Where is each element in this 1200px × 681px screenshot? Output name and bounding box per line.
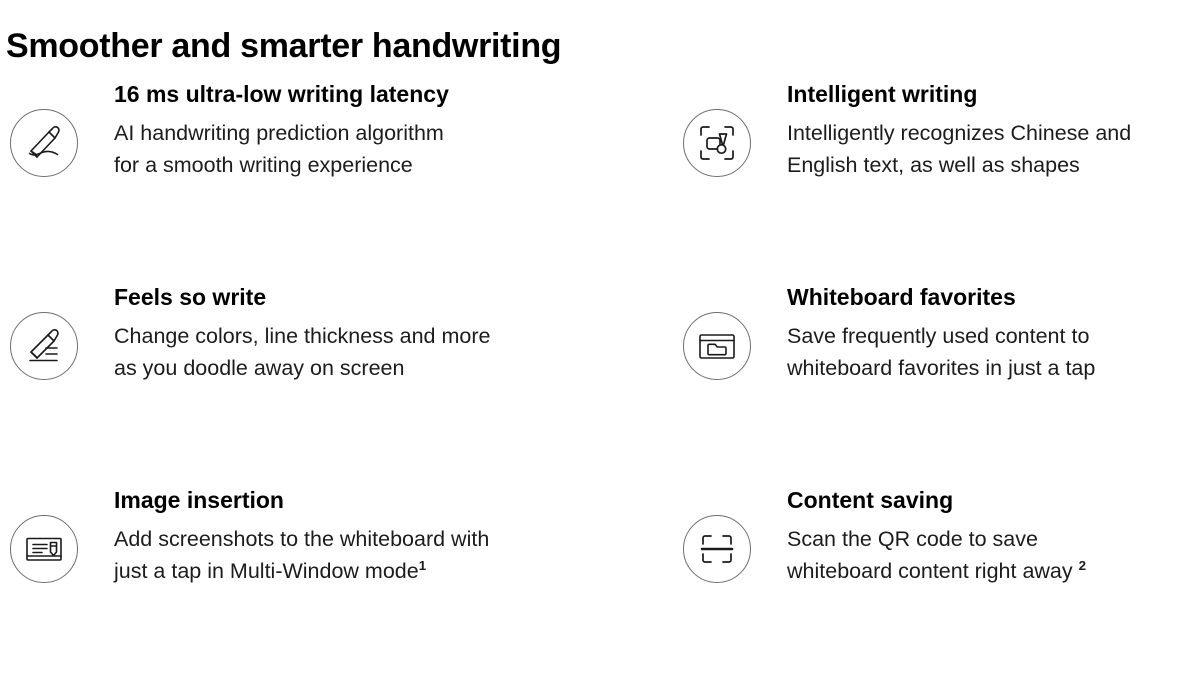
- feature-text: Whiteboard favorites Save frequently use…: [751, 275, 1200, 385]
- feature-title: 16 ms ultra-low writing latency: [114, 80, 680, 109]
- feature-title: Feels so write: [114, 283, 680, 312]
- feature-title: Whiteboard favorites: [787, 283, 1200, 312]
- feature-item-image-insertion: Image insertion Add screenshots to the w…: [0, 478, 680, 681]
- footnote-marker: 2: [1079, 558, 1086, 573]
- feature-icon-wrap: [10, 515, 78, 583]
- feature-desc-line1: Save frequently used content to: [787, 324, 1089, 348]
- feature-row: Image insertion Add screenshots to the w…: [0, 478, 1200, 681]
- pen-stroke-icon: [10, 109, 78, 177]
- feature-description: Change colors, line thickness and more a…: [114, 320, 680, 385]
- feature-description: Intelligently recognizes Chinese and Eng…: [787, 117, 1200, 182]
- pen-lines-icon: [10, 312, 78, 380]
- feature-page: Smoother and smarter handwriting: [0, 0, 1200, 622]
- feature-item-latency: 16 ms ultra-low writing latency AI handw…: [0, 72, 680, 275]
- feature-title: Intelligent writing: [787, 80, 1200, 109]
- feature-title: Image insertion: [114, 486, 680, 515]
- feature-title: Content saving: [787, 486, 1200, 515]
- feature-icon-wrap: [683, 515, 751, 583]
- feature-item-content-saving: Content saving Scan the QR code to save …: [680, 478, 1200, 681]
- feature-description: AI handwriting prediction algorithm for …: [114, 117, 680, 182]
- feature-icon-wrap: [683, 109, 751, 177]
- page-title: Smoother and smarter handwriting: [6, 27, 561, 66]
- feature-desc-line2: for a smooth writing experience: [114, 153, 413, 177]
- feature-desc-line2: whiteboard content right away: [787, 559, 1079, 583]
- feature-row: 16 ms ultra-low writing latency AI handw…: [0, 72, 1200, 275]
- feature-desc-line2: as you doodle away on screen: [114, 356, 404, 380]
- feature-desc-line2: English text, as well as shapes: [787, 153, 1080, 177]
- image-card-pen-icon: [10, 515, 78, 583]
- feature-item-feels-so-write: Feels so write Change colors, line thick…: [0, 275, 680, 478]
- feature-text: Image insertion Add screenshots to the w…: [78, 478, 680, 588]
- feature-desc-line1: Scan the QR code to save: [787, 527, 1038, 551]
- feature-item-intelligent-writing: Intelligent writing Intelligently recogn…: [680, 72, 1200, 275]
- feature-description: Add screenshots to the whiteboard with j…: [114, 523, 680, 588]
- feature-icon-wrap: [10, 109, 78, 177]
- feature-icon-wrap: [683, 312, 751, 380]
- feature-icon-wrap: [10, 312, 78, 380]
- shape-recognition-scan-icon: [683, 109, 751, 177]
- feature-text: Intelligent writing Intelligently recogn…: [751, 72, 1200, 182]
- feature-description: Scan the QR code to save whiteboard cont…: [787, 523, 1200, 588]
- feature-text: Content saving Scan the QR code to save …: [751, 478, 1200, 588]
- feature-desc-line1: Change colors, line thickness and more: [114, 324, 490, 348]
- footnote-marker: 1: [419, 558, 426, 573]
- feature-desc-line1: Add screenshots to the whiteboard with: [114, 527, 489, 551]
- feature-grid: 16 ms ultra-low writing latency AI handw…: [0, 72, 1200, 681]
- feature-desc-line1: AI handwriting prediction algorithm: [114, 121, 444, 145]
- feature-description: Save frequently used content to whiteboa…: [787, 320, 1200, 385]
- board-folder-icon: [683, 312, 751, 380]
- feature-text: 16 ms ultra-low writing latency AI handw…: [78, 72, 680, 182]
- feature-row: Feels so write Change colors, line thick…: [0, 275, 1200, 478]
- feature-desc-line2: just a tap in Multi-Window mode: [114, 559, 419, 583]
- feature-desc-line1: Intelligently recognizes Chinese and: [787, 121, 1131, 145]
- feature-item-whiteboard-favorites: Whiteboard favorites Save frequently use…: [680, 275, 1200, 478]
- feature-desc-line2: whiteboard favorites in just a tap: [787, 356, 1095, 380]
- feature-text: Feels so write Change colors, line thick…: [78, 275, 680, 385]
- qr-scan-frame-icon: [683, 515, 751, 583]
